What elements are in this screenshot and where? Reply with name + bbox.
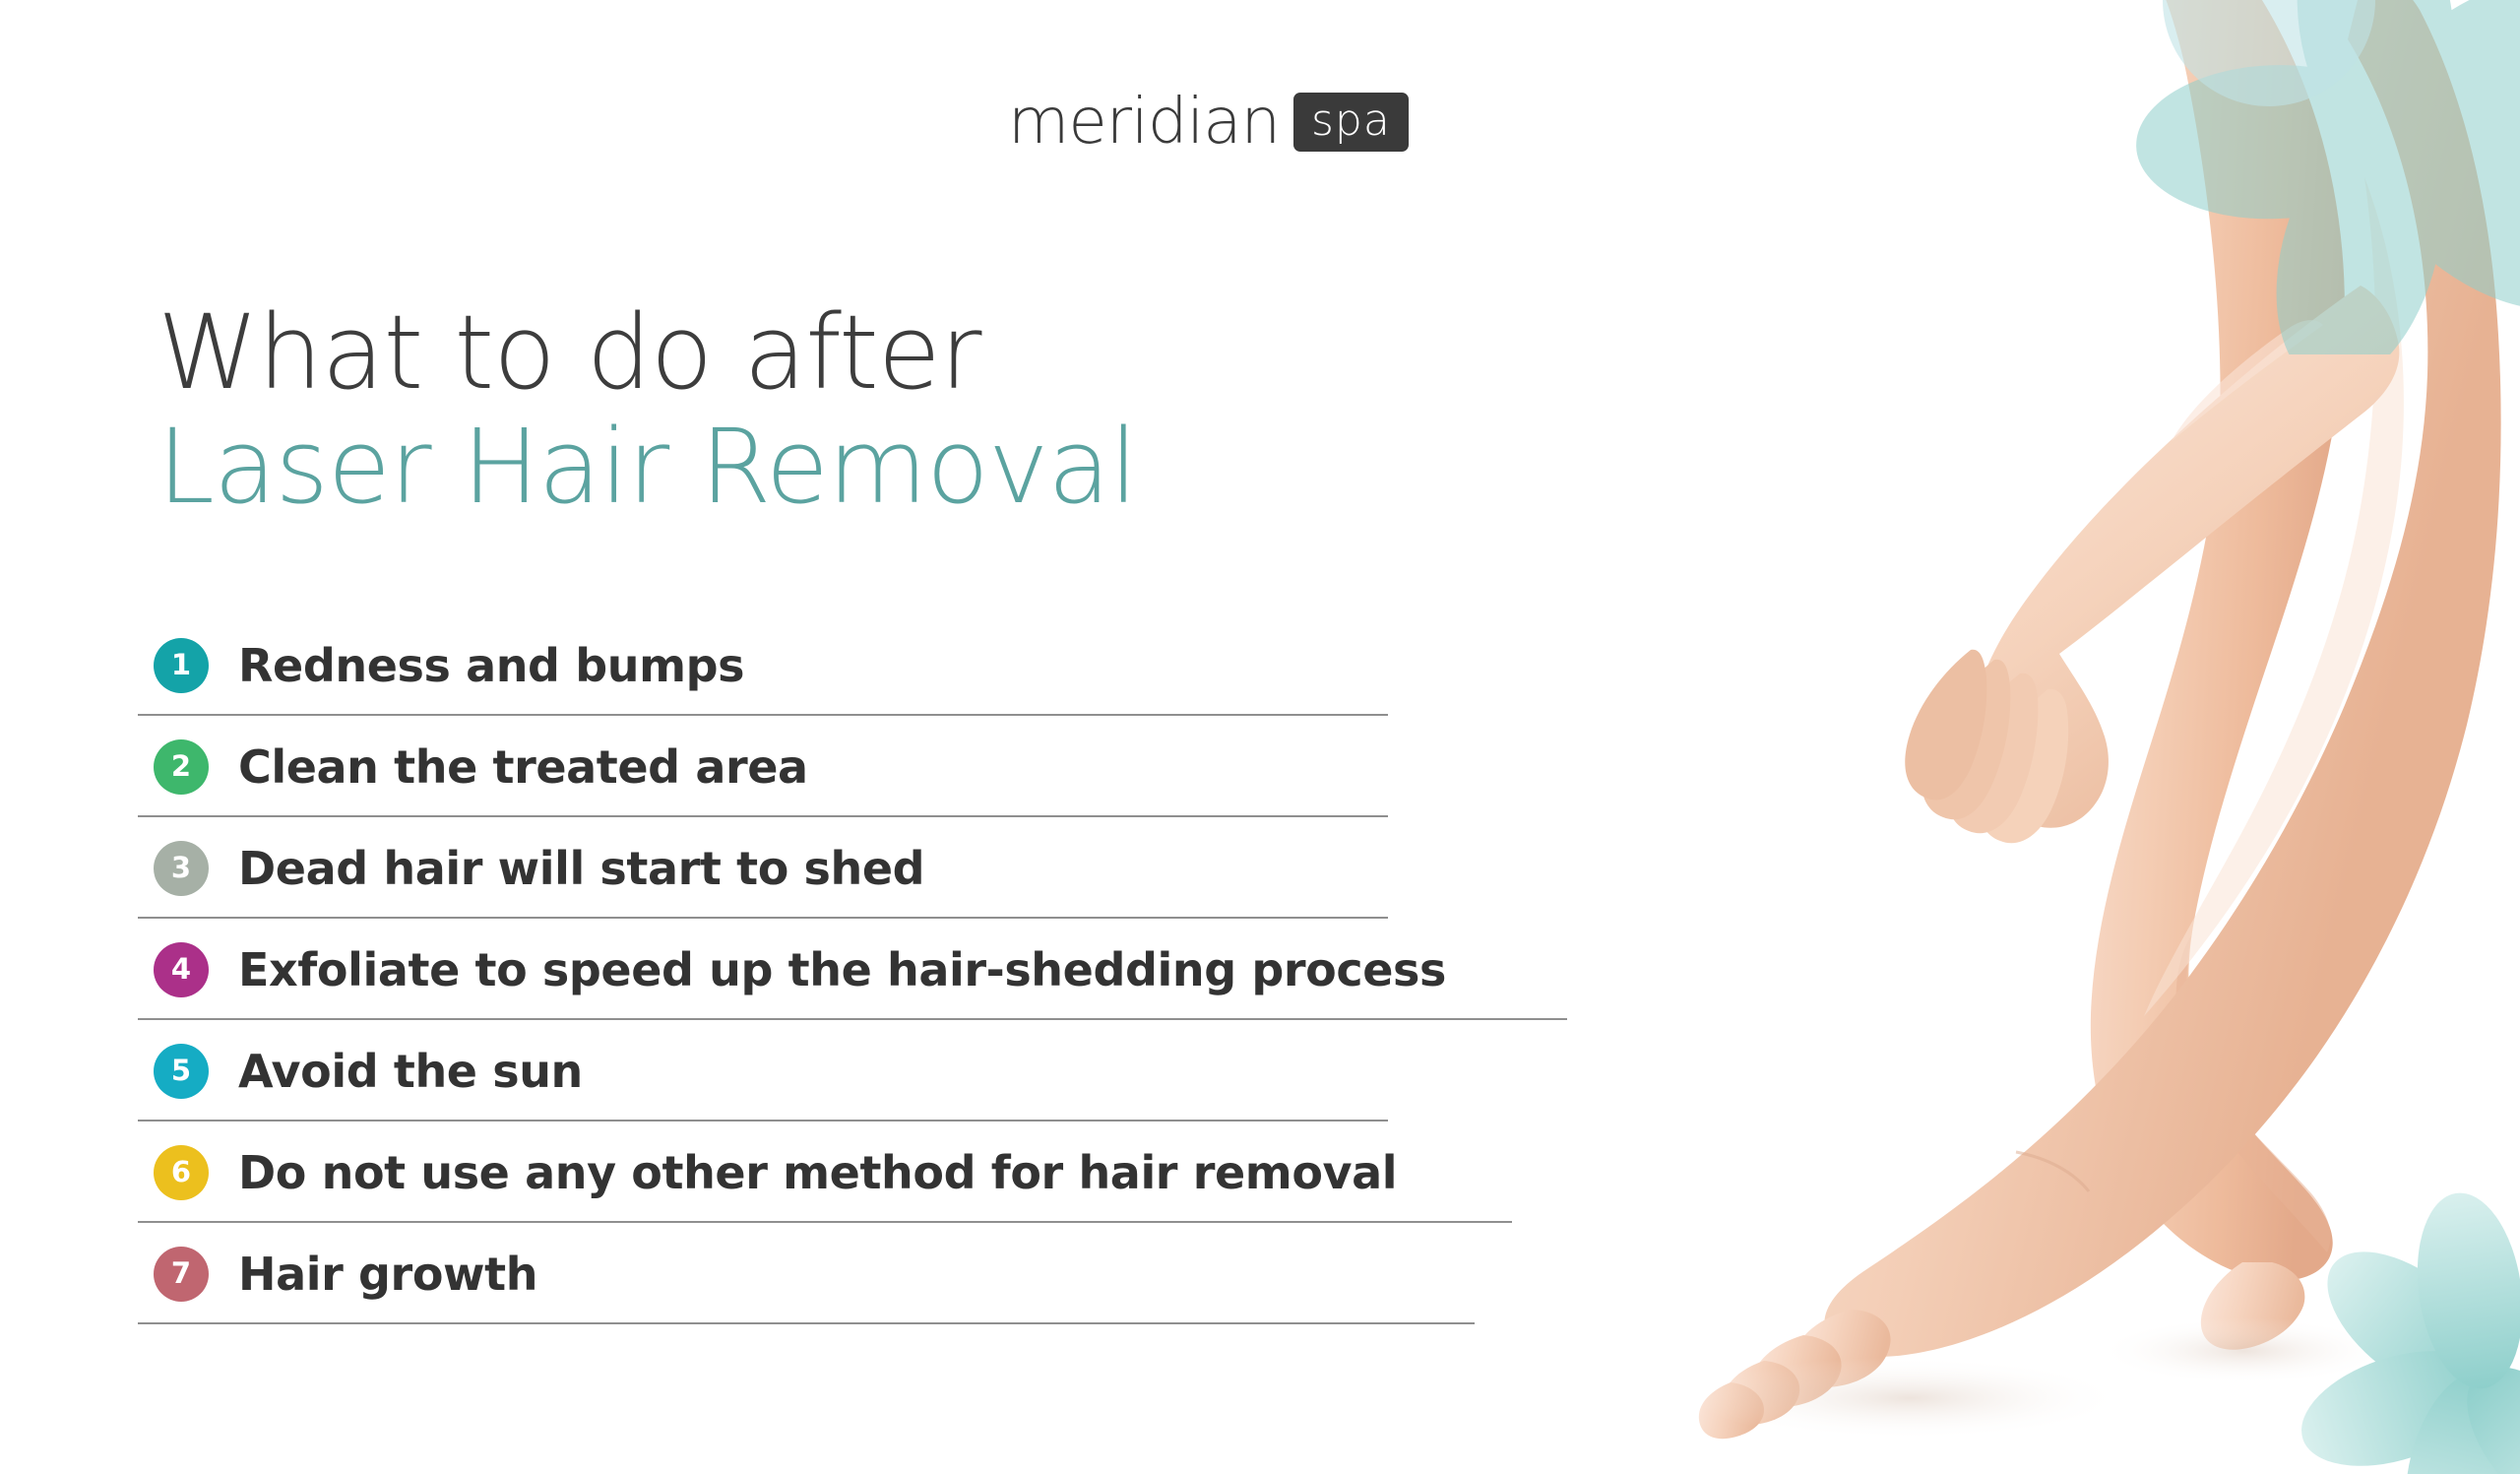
step-number: 5 xyxy=(171,1057,191,1085)
step-label: Avoid the sun xyxy=(238,1049,583,1094)
front-foot-toes xyxy=(1699,1310,1891,1439)
fingers xyxy=(1905,650,2068,843)
flower-decoration-top xyxy=(2067,0,2520,354)
page-title: What to do after Laser Hair Removal xyxy=(157,295,1388,525)
rear-leg xyxy=(2091,0,2345,1281)
foot-shadow-rear xyxy=(2097,1317,2392,1384)
flower-circle-accent xyxy=(2163,0,2375,106)
step-row[interactable]: 1Redness and bumps xyxy=(138,614,1536,716)
step-number-badge: 7 xyxy=(154,1247,209,1302)
step-row[interactable]: 2Clean the treated area xyxy=(138,716,1536,817)
ankle-crease xyxy=(2016,1152,2089,1191)
step-row[interactable]: 7Hair growth xyxy=(138,1223,1536,1324)
front-leg-highlight xyxy=(2144,177,2404,1016)
brand-logo: meridian spa xyxy=(1008,91,1409,154)
step-number: 6 xyxy=(171,1158,191,1186)
step-divider xyxy=(138,1322,1475,1324)
step-number-badge: 5 xyxy=(154,1044,209,1099)
step-number-badge: 3 xyxy=(154,841,209,896)
aftercare-step-list: 1Redness and bumps2Clean the treated are… xyxy=(138,614,1536,1324)
step-label: Redness and bumps xyxy=(238,643,744,688)
rear-foot-shading xyxy=(2176,935,2331,1252)
step-label: Do not use any other method for hair rem… xyxy=(238,1150,1397,1195)
foot-shadow-front xyxy=(1693,1357,2126,1440)
rear-foot-toe xyxy=(2201,1262,2305,1350)
brand-name: meridian xyxy=(1008,91,1280,154)
brand-badge-label: spa xyxy=(1311,96,1391,146)
step-number: 7 xyxy=(171,1259,191,1288)
flower-decoration-bottom xyxy=(2225,1179,2520,1474)
step-label: Clean the treated area xyxy=(238,744,808,790)
step-number-badge: 6 xyxy=(154,1145,209,1200)
step-row[interactable]: 3Dead hair will start to shed xyxy=(138,817,1536,919)
step-row[interactable]: 6Do not use any other method for hair re… xyxy=(138,1122,1536,1223)
step-number-badge: 1 xyxy=(154,638,209,693)
infographic-poster: meridian spa What to do after Laser Hair… xyxy=(0,0,2520,1474)
hand-and-forearm xyxy=(1973,286,2399,828)
step-number: 4 xyxy=(171,955,191,984)
front-leg xyxy=(1824,0,2500,1357)
step-label: Exfoliate to speed up the hair-shedding … xyxy=(238,947,1446,993)
step-number-badge: 4 xyxy=(154,942,209,997)
step-number: 2 xyxy=(171,752,191,781)
step-number: 1 xyxy=(171,651,191,679)
step-label: Hair growth xyxy=(238,1251,537,1297)
title-line-accent: Laser Hair Removal xyxy=(157,410,1388,524)
step-number-badge: 2 xyxy=(154,739,209,795)
brand-badge: spa xyxy=(1293,93,1409,152)
step-number: 3 xyxy=(171,854,191,882)
title-line-primary: What to do after xyxy=(157,295,1388,410)
step-row[interactable]: 5Avoid the sun xyxy=(138,1020,1536,1122)
step-label: Dead hair will start to shed xyxy=(238,846,924,891)
step-row[interactable]: 4Exfoliate to speed up the hair-shedding… xyxy=(138,919,1536,1020)
wrist-highlight xyxy=(2172,320,2323,441)
